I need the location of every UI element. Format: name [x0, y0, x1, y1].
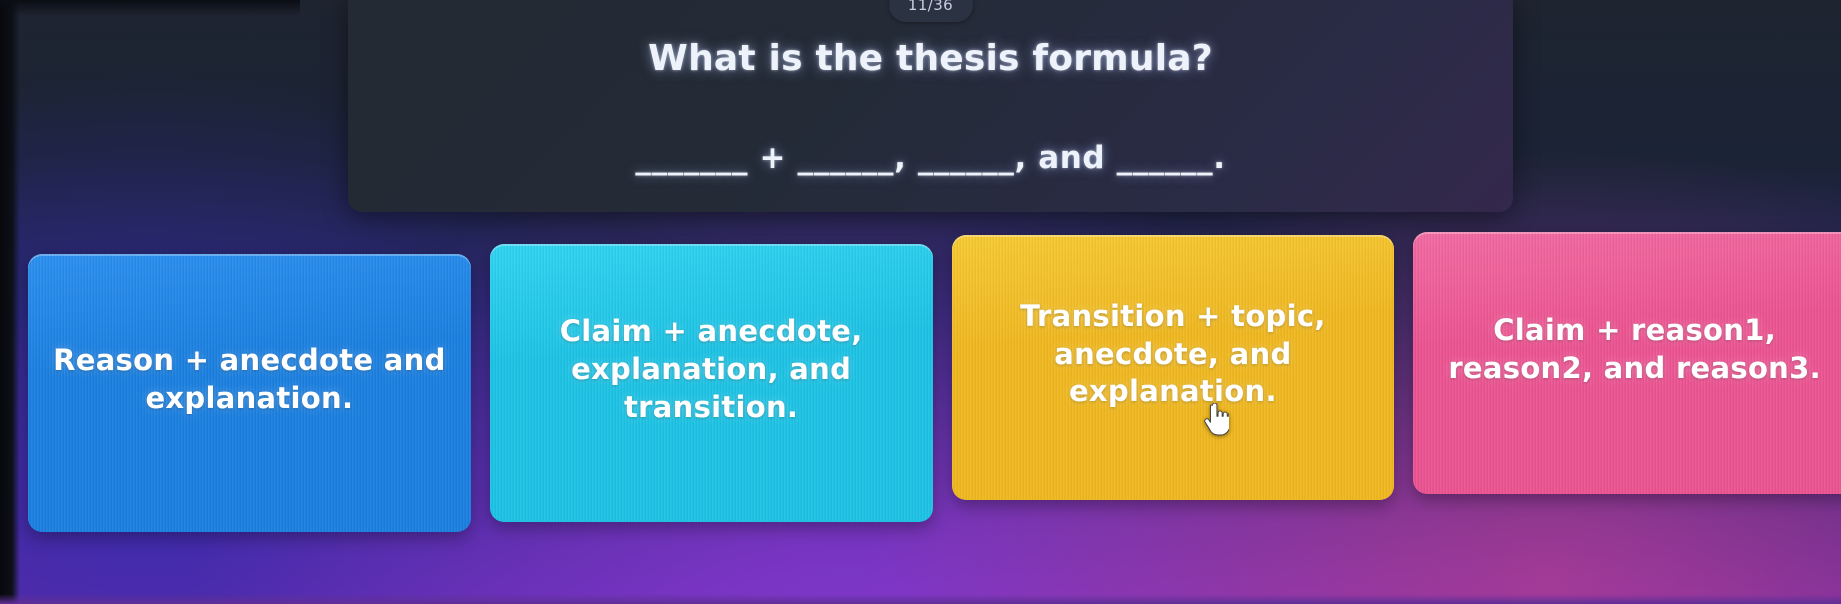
- answer-option-3[interactable]: Transition + topic, anecdote, and explan…: [952, 235, 1395, 500]
- answer-option-2-label: Claim + anecdote, explanation, and trans…: [508, 313, 915, 426]
- screen-bezel-top: [0, 0, 300, 16]
- quiz-screen: 11/36 What is the thesis formula? ______…: [0, 0, 1841, 604]
- answer-option-1[interactable]: Reason + anecdote and explanation.: [28, 254, 471, 532]
- answer-option-2[interactable]: Claim + anecdote, explanation, and trans…: [490, 244, 933, 522]
- screen-bezel-bottom: [0, 594, 1841, 604]
- answer-option-1-label: Reason + anecdote and explanation.: [46, 342, 453, 417]
- answer-option-4-label: Claim + reason1, reason2, and reason3.: [1431, 312, 1838, 387]
- question-title: What is the thesis formula?: [348, 38, 1513, 79]
- progress-badge: 11/36: [889, 0, 973, 22]
- answer-options-grid: Reason + anecdote and explanation. Claim…: [28, 232, 1841, 517]
- answer-option-4[interactable]: Claim + reason1, reason2, and reason3.: [1413, 232, 1841, 494]
- question-blanks-line: _______ + ______, ______, and ______.: [348, 140, 1513, 176]
- answer-option-3-label: Transition + topic, anecdote, and explan…: [970, 298, 1377, 411]
- question-panel: 11/36 What is the thesis formula? ______…: [348, 0, 1513, 212]
- screen-bezel-left: [0, 0, 20, 604]
